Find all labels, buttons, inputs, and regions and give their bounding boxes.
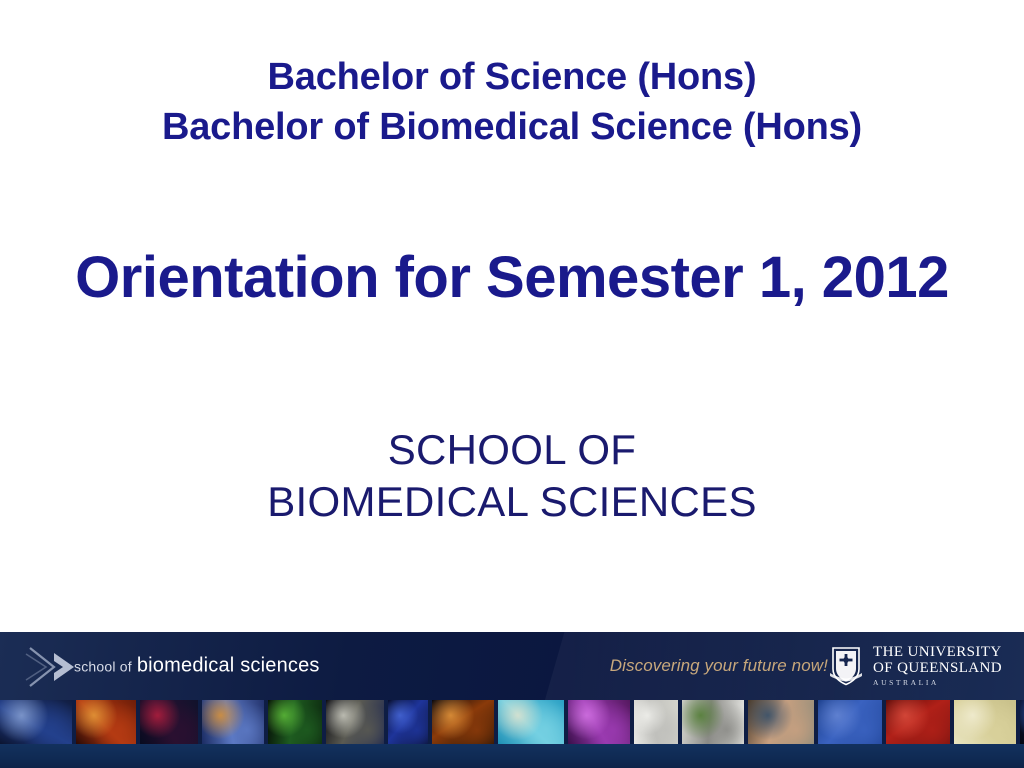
filmstrip-thumbnail (326, 700, 384, 744)
slide-heading: Bachelor of Science (Hons) Bachelor of B… (32, 52, 992, 152)
school-wordmark: school ofbiomedical sciences (74, 655, 320, 678)
slide-title: Orientation for Semester 1, 2012 (72, 243, 952, 313)
filmstrip-thumbnail (76, 700, 136, 744)
wordmark-large-text: biomedical sciences (137, 655, 320, 677)
presentation-slide: Bachelor of Science (Hons) Bachelor of B… (0, 0, 1024, 768)
filmstrip-thumbnail (818, 700, 882, 744)
wordmark-small-text: school of (74, 659, 132, 675)
footer-image-filmstrip (0, 700, 1024, 744)
subtitle-line-2: BIOMEDICAL SCIENCES (72, 476, 952, 528)
heading-line-1: Bachelor of Science (Hons) (32, 52, 992, 102)
slide-content-area: Bachelor of Science (Hons) Bachelor of B… (0, 0, 1024, 632)
uq-wordmark: THE UNIVERSITY OF QUEENSLAND AUSTRALIA (873, 645, 1002, 687)
filmstrip-thumbnail (388, 700, 428, 744)
footer-banner-bar: school ofbiomedical sciences Discovering… (0, 632, 1024, 700)
slide-subtitle: SCHOOL OF BIOMEDICAL SCIENCES (72, 424, 952, 528)
filmstrip-thumbnail (1020, 700, 1024, 744)
footer-tagline: Discovering your future now! (610, 656, 828, 676)
filmstrip-thumbnail (202, 700, 264, 744)
filmstrip-thumbnail (0, 700, 72, 744)
footer-base-strip (0, 744, 1024, 768)
uq-line-1: THE UNIVERSITY (873, 645, 1002, 661)
uq-line-3: AUSTRALIA (873, 679, 1002, 687)
uq-logo: THE UNIVERSITY OF QUEENSLAND AUSTRALIA (828, 645, 1002, 687)
uq-line-2: OF QUEENSLAND (873, 661, 1002, 677)
uq-crest-icon (828, 645, 864, 687)
filmstrip-thumbnail (634, 700, 678, 744)
filmstrip-thumbnail (954, 700, 1016, 744)
filmstrip-thumbnail (568, 700, 630, 744)
filmstrip-thumbnail (748, 700, 814, 744)
slide-footer: school ofbiomedical sciences Discovering… (0, 632, 1024, 768)
filmstrip-thumbnail (268, 700, 322, 744)
filmstrip-thumbnail (886, 700, 950, 744)
filmstrip-thumbnail (140, 700, 198, 744)
filmstrip-thumbnail (498, 700, 564, 744)
slide-title-text: Orientation for Semester 1, 2012 (72, 243, 952, 313)
filmstrip-thumbnail (682, 700, 744, 744)
heading-line-2: Bachelor of Biomedical Science (Hons) (32, 102, 992, 152)
subtitle-line-1: SCHOOL OF (72, 424, 952, 476)
filmstrip-thumbnail (432, 700, 494, 744)
